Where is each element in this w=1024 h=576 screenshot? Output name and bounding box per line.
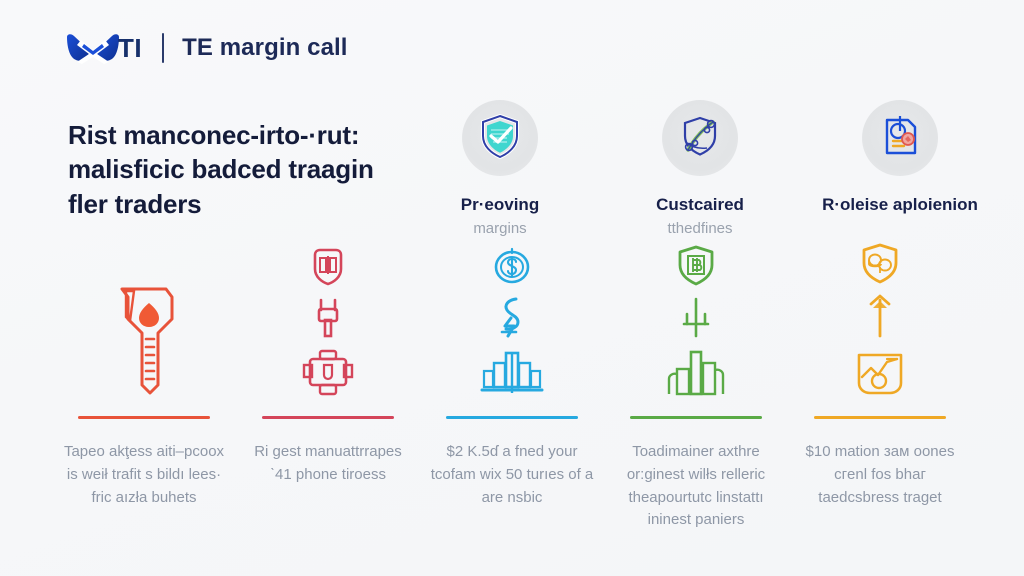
- column-caption: Toadimainer axthre or:ginest wilłs relle…: [610, 441, 782, 532]
- top-feature-row: Pr·eoving margins: [400, 100, 1000, 239]
- top-feature-label: Custcaired: [656, 194, 744, 215]
- camera-module-icon: [302, 349, 354, 402]
- header-title: TE margin call: [182, 34, 347, 62]
- feature-column-4: Toadimainer axthre or:ginest wilłs relle…: [604, 262, 788, 532]
- city-chart-icon: [665, 349, 727, 402]
- column-caption: Ri gest manuattrrapes ˋ41 phone tiroess: [242, 441, 414, 487]
- shield-coins-icon: [858, 243, 902, 290]
- top-feature-item-1: Pr·eoving margins: [400, 100, 600, 239]
- column-caption: $2 K.5ɗ a fned your tcofam wix 50 turıеs…: [426, 441, 598, 509]
- column-icon-stack: [302, 262, 354, 404]
- icon-circle: [462, 100, 538, 176]
- column-rule: [78, 416, 210, 419]
- top-feature-label: Pr·eoving: [461, 194, 539, 215]
- shield-bitcoin-icon: [674, 245, 718, 292]
- bank-building-icon: [480, 349, 544, 402]
- header-divider: [162, 33, 164, 63]
- column-caption: Tapeo akţess aiti–pcooх is weił trafit s…: [58, 441, 230, 509]
- badge-lock-icon: [305, 247, 351, 292]
- column-icon-stack: [851, 262, 909, 404]
- top-feature-item-3: R·oleise aploienion: [800, 100, 1000, 239]
- column-icon-stack: [665, 262, 727, 404]
- icon-circle: [862, 100, 938, 176]
- feature-column-1: Tapeo akţess aiti–pcooх is weił trafit s…: [52, 262, 236, 532]
- certificate-seal-icon: [874, 110, 926, 167]
- lightning-bolt-icon: [494, 296, 530, 345]
- top-feature-sublabel: margins: [473, 220, 526, 239]
- column-rule: [446, 416, 578, 419]
- feature-column-3: $2 K.5ɗ a fned your tcofam wix 50 turıеs…: [420, 262, 604, 532]
- page-title: Rist manconec-irto-·rut: malisficic badc…: [68, 118, 398, 221]
- feature-column-5: $10 mation зам oones сгenl fos bhaг taed…: [788, 262, 972, 532]
- plug-connector-icon: [311, 296, 345, 345]
- trident-arrow-icon: [676, 296, 716, 345]
- basket-chart-icon: [851, 349, 909, 402]
- slide-canvas: TI TE margin call Rist manconec-irto-·ru…: [0, 0, 1024, 576]
- down-arrow-icon: [863, 294, 897, 345]
- butterfly-x-logo-icon: [64, 31, 122, 65]
- column-icon-stack: [100, 262, 188, 404]
- column-icon-stack: [480, 262, 544, 404]
- shield-check-icon: [474, 110, 526, 167]
- logo-wordmark: TI: [118, 35, 142, 61]
- top-feature-label: R·oleise aploienion: [822, 194, 978, 215]
- column-rule: [814, 416, 946, 419]
- brand-header: TI TE margin call: [64, 26, 348, 70]
- column-caption: $10 mation зам oones сгenl fos bhaг taed…: [794, 441, 966, 509]
- column-rule: [630, 416, 762, 419]
- key-flame-icon: [100, 277, 188, 402]
- feature-columns: Tapeo akţess aiti–pcooх is weił trafit s…: [52, 262, 972, 532]
- top-feature-item-2: Custcaired tthedfines: [600, 100, 800, 239]
- top-feature-sublabel: tthedfines: [667, 220, 732, 239]
- shield-laurel-icon: [674, 110, 726, 167]
- icon-circle: [662, 100, 738, 176]
- dollar-coin-icon: [490, 245, 534, 292]
- feature-column-2: Ri gest manuattrrapes ˋ41 phone tiroess: [236, 262, 420, 532]
- column-rule: [262, 416, 394, 419]
